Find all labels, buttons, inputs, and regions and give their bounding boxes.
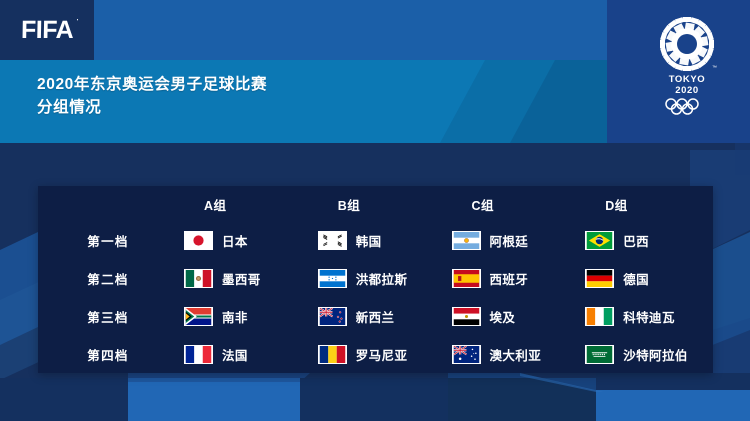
table-cell-b2: 洪都拉斯 — [312, 269, 446, 288]
table-cell-a3: 南非 — [178, 307, 312, 326]
team-name: 澳大利亚 — [490, 345, 542, 364]
flag-argentina — [452, 231, 481, 250]
table-cell-c3: 埃及 — [446, 307, 580, 326]
team-name: 阿根廷 — [490, 231, 529, 250]
svg-text:™: ™ — [712, 65, 717, 71]
team-name: 沙特阿拉伯 — [623, 345, 688, 364]
title-band: 2020年东京奥运会男子足球比赛 分组情况 — [0, 60, 750, 143]
flag-egypt — [452, 307, 481, 326]
table-cell-d4: 沙特阿拉伯 — [579, 345, 713, 364]
harmonized-chequered-ring-icon: ™ — [657, 15, 717, 73]
tokyo-2020-wordmark: TOKYO 2020 — [657, 74, 717, 96]
flag-germany — [585, 269, 614, 288]
page-title: 2020年东京奥运会男子足球比赛 分组情况 — [37, 73, 267, 119]
group-header-c: C组 — [446, 195, 580, 214]
team-name: 罗马尼亚 — [356, 345, 408, 364]
flag-france — [184, 345, 213, 364]
team-name: 洪都拉斯 — [356, 269, 408, 288]
team-name: 德国 — [623, 269, 649, 288]
table-cell-c2: 西班牙 — [446, 269, 580, 288]
table-cell-b3: 新西兰 — [312, 307, 446, 326]
flag-australia — [452, 345, 481, 364]
flag-ivory-coast — [585, 307, 614, 326]
team-name: 墨西哥 — [222, 269, 261, 288]
table-cell-b4: 罗马尼亚 — [312, 345, 446, 364]
table-cell-d2: 德国 — [579, 269, 713, 288]
flag-south-korea — [318, 231, 347, 250]
group-header-b: B组 — [312, 195, 446, 214]
team-name: 西班牙 — [490, 269, 529, 288]
row-label-pot-1: 第一档 — [38, 231, 178, 250]
tokyo-2020-emblem: ™ TOKYO 2020 — [657, 15, 717, 107]
team-name: 科特迪瓦 — [623, 307, 675, 326]
team-name: 巴西 — [623, 231, 649, 250]
row-label-pot-3: 第三档 — [38, 307, 178, 326]
fifa-wordmark: FIFA· — [21, 16, 74, 45]
team-name: 新西兰 — [356, 307, 395, 326]
row-label-pot-2: 第二档 — [38, 269, 178, 288]
table-cell-a4: 法国 — [178, 345, 312, 364]
table-cell-d1: 巴西 — [579, 231, 713, 250]
table-cell-c1: 阿根廷 — [446, 231, 580, 250]
group-header-d: D组 — [579, 195, 713, 214]
flag-brazil — [585, 231, 614, 250]
flag-saudi-arabia — [585, 345, 614, 364]
table-cell-c4: 澳大利亚 — [446, 345, 580, 364]
row-label-pot-4: 第四档 — [38, 345, 178, 364]
table-cell-b1: 韩国 — [312, 231, 446, 250]
fifa-logo-block: FIFA· — [0, 0, 94, 60]
slide-canvas: FIFA· 2020年东京奥运会男子足球比赛 分组情况 — [0, 0, 750, 421]
flag-japan — [184, 231, 213, 250]
flag-mexico — [184, 269, 213, 288]
table-cell-a1: 日本 — [178, 231, 312, 250]
team-name: 南非 — [222, 307, 248, 326]
team-name: 埃及 — [490, 307, 516, 326]
table-cell-d3: 科特迪瓦 — [579, 307, 713, 326]
flag-new-zealand — [318, 307, 347, 326]
flag-romania — [318, 345, 347, 364]
flag-spain — [452, 269, 481, 288]
flag-honduras — [318, 269, 347, 288]
trademark-icon: · — [76, 17, 78, 24]
flag-south-africa — [184, 307, 213, 326]
team-name: 韩国 — [356, 231, 382, 250]
groups-grid: A组 B组 C组 D组 第一档 日本 — [38, 186, 713, 373]
group-header-a: A组 — [178, 195, 312, 214]
groups-table-panel: A组 B组 C组 D组 第一档 日本 — [38, 186, 713, 373]
team-name: 法国 — [222, 345, 248, 364]
table-cell-a2: 墨西哥 — [178, 269, 312, 288]
olympic-rings-icon — [657, 98, 717, 115]
team-name: 日本 — [222, 231, 248, 250]
